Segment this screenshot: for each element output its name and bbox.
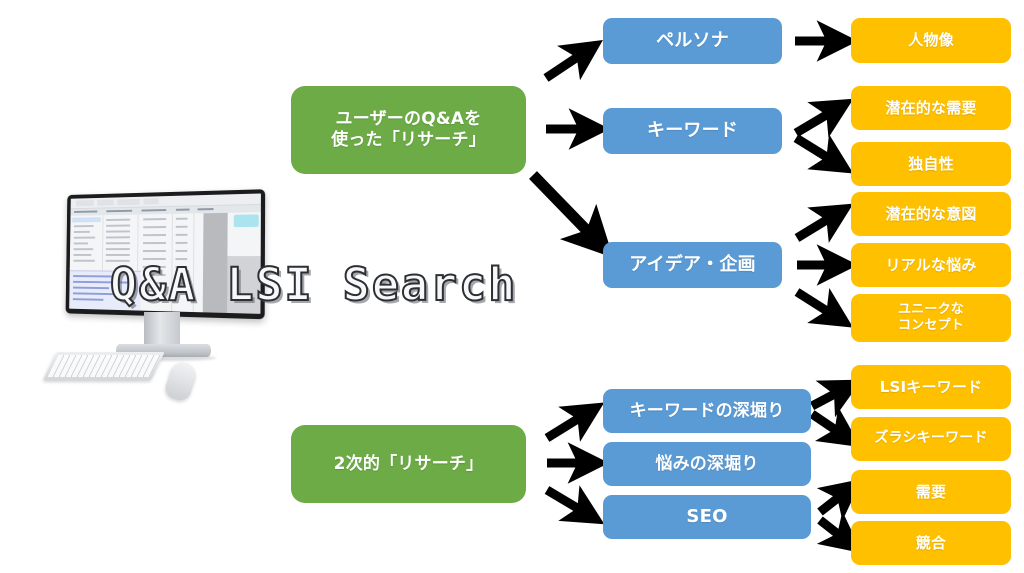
screen-text-line [106, 230, 130, 232]
screen-tab [76, 200, 94, 206]
node-keyword-label: キーワード [647, 120, 738, 142]
node-unique-concept-label: ユニークな コンセプト [898, 302, 964, 335]
node-demand[interactable]: 需要 [851, 470, 1011, 514]
diagram-canvas: Q&A LSI Search [0, 0, 1024, 573]
label-line-2: 使った「リサーチ」 [331, 130, 486, 150]
screen-text-line [106, 242, 130, 244]
node-secondary-research[interactable]: 2次的「リサーチ」 [291, 425, 526, 503]
node-lsi-keyword[interactable]: LSIキーワード [851, 365, 1011, 409]
arrow-idea-to-senzai-ito [797, 213, 838, 238]
screen-text-line [74, 225, 94, 227]
arrow-keyword-to-senzai-juyo [796, 108, 838, 133]
screen-text-line [176, 209, 190, 211]
monitor-stand-neck [144, 312, 180, 348]
node-latent-demand-label: 潜在的な需要 [885, 99, 976, 117]
screen-text-line [176, 234, 188, 236]
label-line-1: ユニークな [898, 302, 964, 317]
screen-text-line [74, 237, 95, 239]
node-persona[interactable]: ペルソナ [603, 18, 782, 64]
arrow-seo-to-kyogo [820, 520, 848, 542]
node-latent-demand[interactable]: 潜在的な需要 [851, 86, 1011, 130]
node-keyword[interactable]: キーワード [603, 108, 782, 154]
node-unique-concept[interactable]: ユニークな コンセプト [851, 294, 1011, 342]
node-zurashi-keyword-label: ズラシキーワード [874, 430, 987, 447]
screen-text-line [106, 236, 130, 238]
arrow-green-to-persona [546, 50, 588, 78]
node-pain-deepdive-label: 悩みの深堀り [655, 454, 758, 475]
node-zurashi-keyword[interactable]: ズラシキーワード [851, 417, 1011, 461]
screen-highlight-chip [234, 214, 259, 227]
screen-text-line [143, 242, 166, 244]
node-latent-intent-label: 潜在的な意図 [885, 205, 976, 223]
arrow-keyword-to-dokujisei [796, 138, 838, 164]
label-line-1: ユーザーのQ&Aを [336, 109, 482, 129]
screen-text-line [176, 218, 188, 220]
node-uniqueness[interactable]: 独自性 [851, 142, 1011, 186]
keyboard-illustration [43, 352, 165, 380]
arrow-idea-to-unique-concept [797, 292, 838, 318]
screen-text-line [143, 218, 166, 220]
arrow-green-to-idea [533, 175, 598, 242]
screen-tab [117, 199, 139, 205]
label-line-2: コンセプト [898, 318, 964, 333]
page-title: Q&A LSI Search [110, 258, 517, 311]
node-secondary-research-label: 2次的「リサーチ」 [334, 454, 484, 475]
node-primary-research-label: ユーザーのQ&Aを 使った「リサーチ」 [331, 109, 486, 150]
node-keyword-deepdive-label: キーワードの深堀り [630, 401, 785, 422]
node-lsi-keyword-label: LSIキーワード [880, 378, 983, 396]
screen-text-line [176, 226, 188, 228]
screen-text-line [106, 219, 130, 221]
arrow-kw-deep-to-lsi [812, 388, 846, 406]
screen-text-line [143, 250, 166, 252]
screen-text-line [143, 226, 166, 228]
node-latent-intent[interactable]: 潜在的な意図 [851, 192, 1011, 236]
node-idea-planning[interactable]: アイデア・企画 [603, 242, 782, 288]
node-pain-deepdive[interactable]: 悩みの深堀り [603, 442, 811, 486]
screen-text-line [106, 248, 130, 250]
node-demand-label: 需要 [916, 483, 946, 501]
arrow-green2-to-kw-deep [547, 412, 589, 438]
arrow-seo-to-juyo [820, 490, 848, 512]
node-seo-label: SEO [686, 506, 727, 528]
screen-text-line [106, 225, 130, 227]
screen-text-line [74, 231, 90, 233]
node-seo[interactable]: SEO [603, 495, 811, 539]
node-uniqueness-label: 独自性 [908, 155, 954, 173]
screen-text-line [176, 242, 188, 244]
arrow-kw-deep-to-zurashi [812, 414, 846, 437]
screen-text-line [106, 254, 130, 256]
node-competition-label: 競合 [916, 534, 946, 552]
screen-selected-cell [72, 217, 101, 222]
screen-text-line [176, 250, 188, 252]
mouse-illustration [163, 359, 199, 403]
node-competition[interactable]: 競合 [851, 521, 1011, 565]
node-jinbutsuzo-label: 人物像 [908, 31, 954, 49]
screen-tab [143, 198, 158, 204]
node-keyword-deepdive[interactable]: キーワードの深堀り [603, 389, 811, 433]
node-real-pain-label: リアルな悩み [885, 256, 976, 274]
screen-text-line [73, 254, 91, 256]
node-persona-label: ペルソナ [656, 30, 729, 52]
keyboard-keys [48, 355, 161, 377]
arrow-green2-to-seo [547, 490, 589, 515]
node-primary-research[interactable]: ユーザーのQ&Aを 使った「リサーチ」 [291, 86, 526, 174]
screen-text-line [74, 248, 94, 250]
screen-text-line [198, 208, 214, 210]
screen-text-line [73, 260, 94, 262]
screen-text-line [74, 242, 88, 244]
node-idea-planning-label: アイデア・企画 [629, 254, 756, 276]
screen-text-line [143, 234, 166, 236]
node-jinbutsuzo[interactable]: 人物像 [851, 18, 1011, 63]
node-real-pain[interactable]: リアルな悩み [851, 243, 1011, 287]
screen-tab [97, 199, 113, 205]
